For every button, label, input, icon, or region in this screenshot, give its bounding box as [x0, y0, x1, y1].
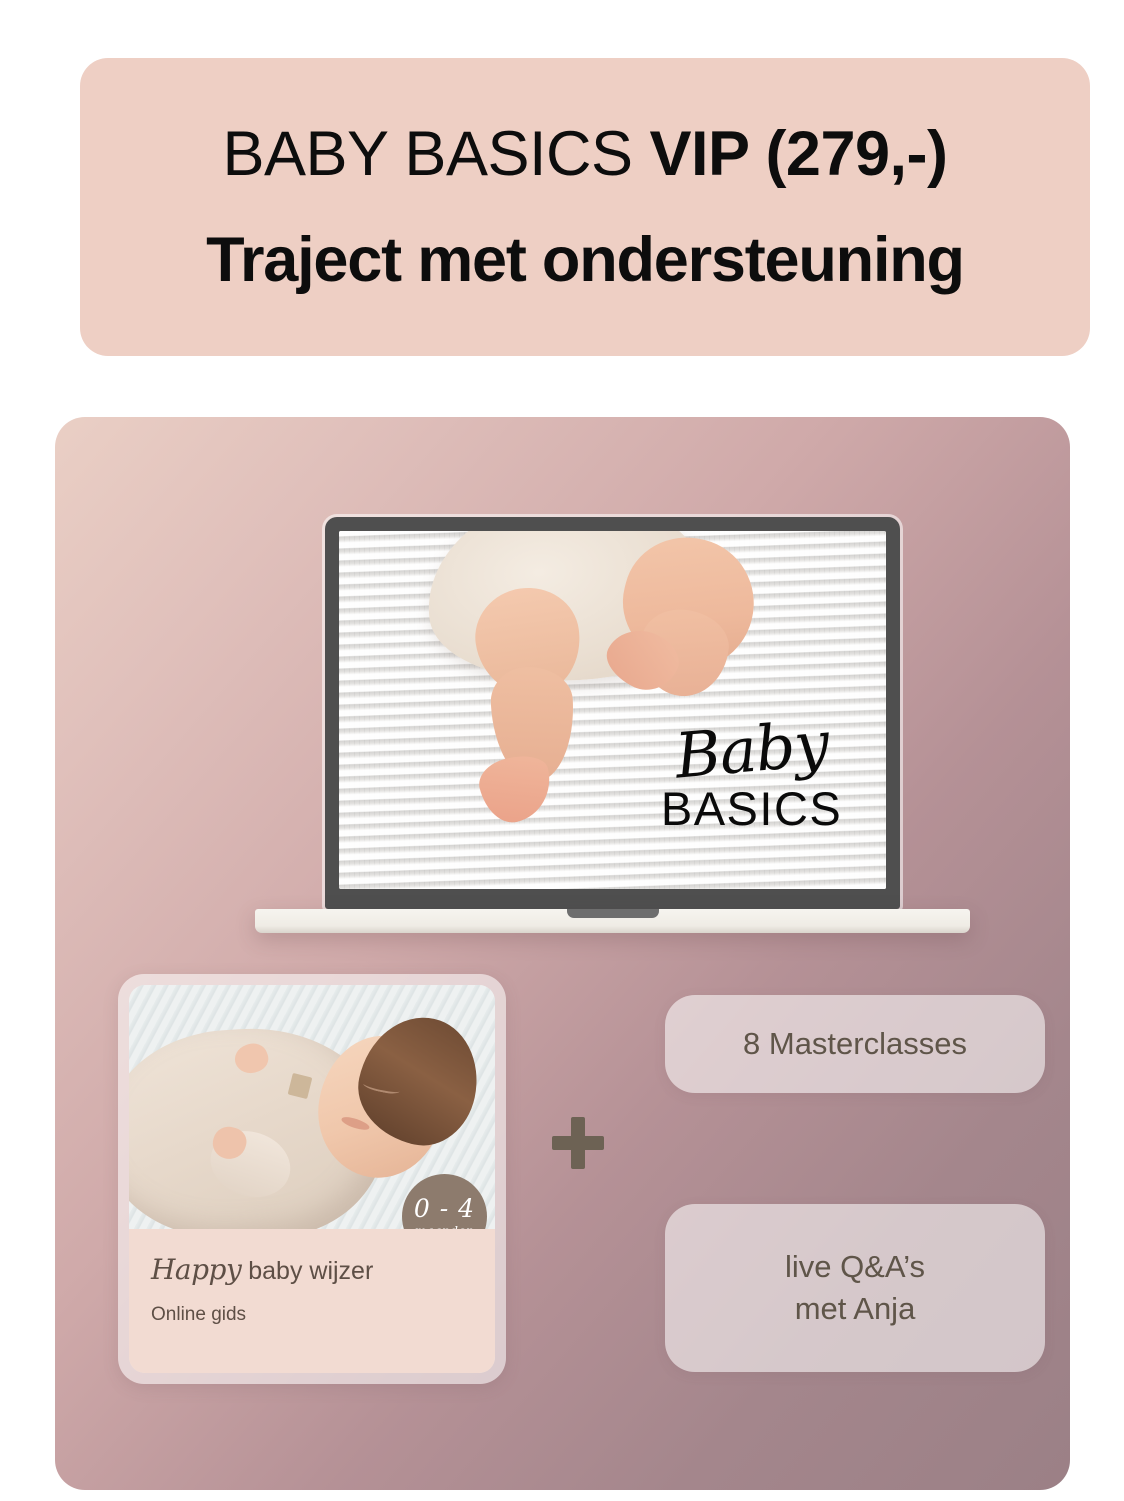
laptop-notch — [567, 909, 659, 918]
feature-pill-masterclasses[interactable]: 8 Masterclasses — [665, 995, 1045, 1093]
feature-pill-masterclasses-label: 8 Masterclasses — [743, 1026, 967, 1062]
guide-title-rest: baby wijzer — [241, 1257, 373, 1285]
age-badge-unit: maanden — [415, 1225, 474, 1229]
laptop-base — [255, 909, 970, 933]
header-banner: BABY BASICS VIP (279,-) Traject met onde… — [80, 58, 1090, 356]
plus-icon — [552, 1117, 604, 1169]
feature-pill-qa-label-line1: live Q&A’s — [785, 1246, 925, 1288]
feature-pill-qa-label-line2: met Anja — [785, 1288, 925, 1330]
header-title-light: BABY BASICS — [222, 119, 649, 189]
header-subtitle: Traject met ondersteuning — [206, 228, 964, 292]
brand-script-text: Baby — [658, 711, 844, 789]
product-visual-card: Baby BASICS 0 - 4 ma — [55, 417, 1070, 1490]
screen-brand-logo: Baby BASICS — [661, 719, 842, 832]
guide-title-script: Happy — [151, 1253, 241, 1286]
header-title: BABY BASICS VIP (279,-) — [222, 122, 947, 186]
guide-card-title: Happy baby wijzer — [151, 1255, 495, 1286]
laptop-lid: Baby BASICS — [325, 517, 900, 909]
header-title-bold: VIP (279,-) — [650, 119, 948, 189]
age-badge-range: 0 - 4 — [414, 1196, 475, 1221]
laptop-mockup: Baby BASICS — [255, 517, 970, 933]
guide-card-subtitle: Online gids — [151, 1304, 495, 1326]
guide-product-card[interactable]: 0 - 4 maanden Happy baby wijzer Online g… — [118, 974, 506, 1384]
laptop-screen: Baby BASICS — [339, 531, 886, 889]
guide-card-inner: 0 - 4 maanden Happy baby wijzer Online g… — [129, 985, 495, 1373]
brand-basics-text: BASICS — [661, 785, 842, 832]
guide-card-caption: Happy baby wijzer Online gids — [129, 1229, 495, 1373]
feature-pill-qa[interactable]: live Q&A’s met Anja — [665, 1204, 1045, 1372]
age-range-badge: 0 - 4 maanden — [402, 1174, 487, 1229]
guide-card-photo: 0 - 4 maanden — [129, 985, 495, 1229]
